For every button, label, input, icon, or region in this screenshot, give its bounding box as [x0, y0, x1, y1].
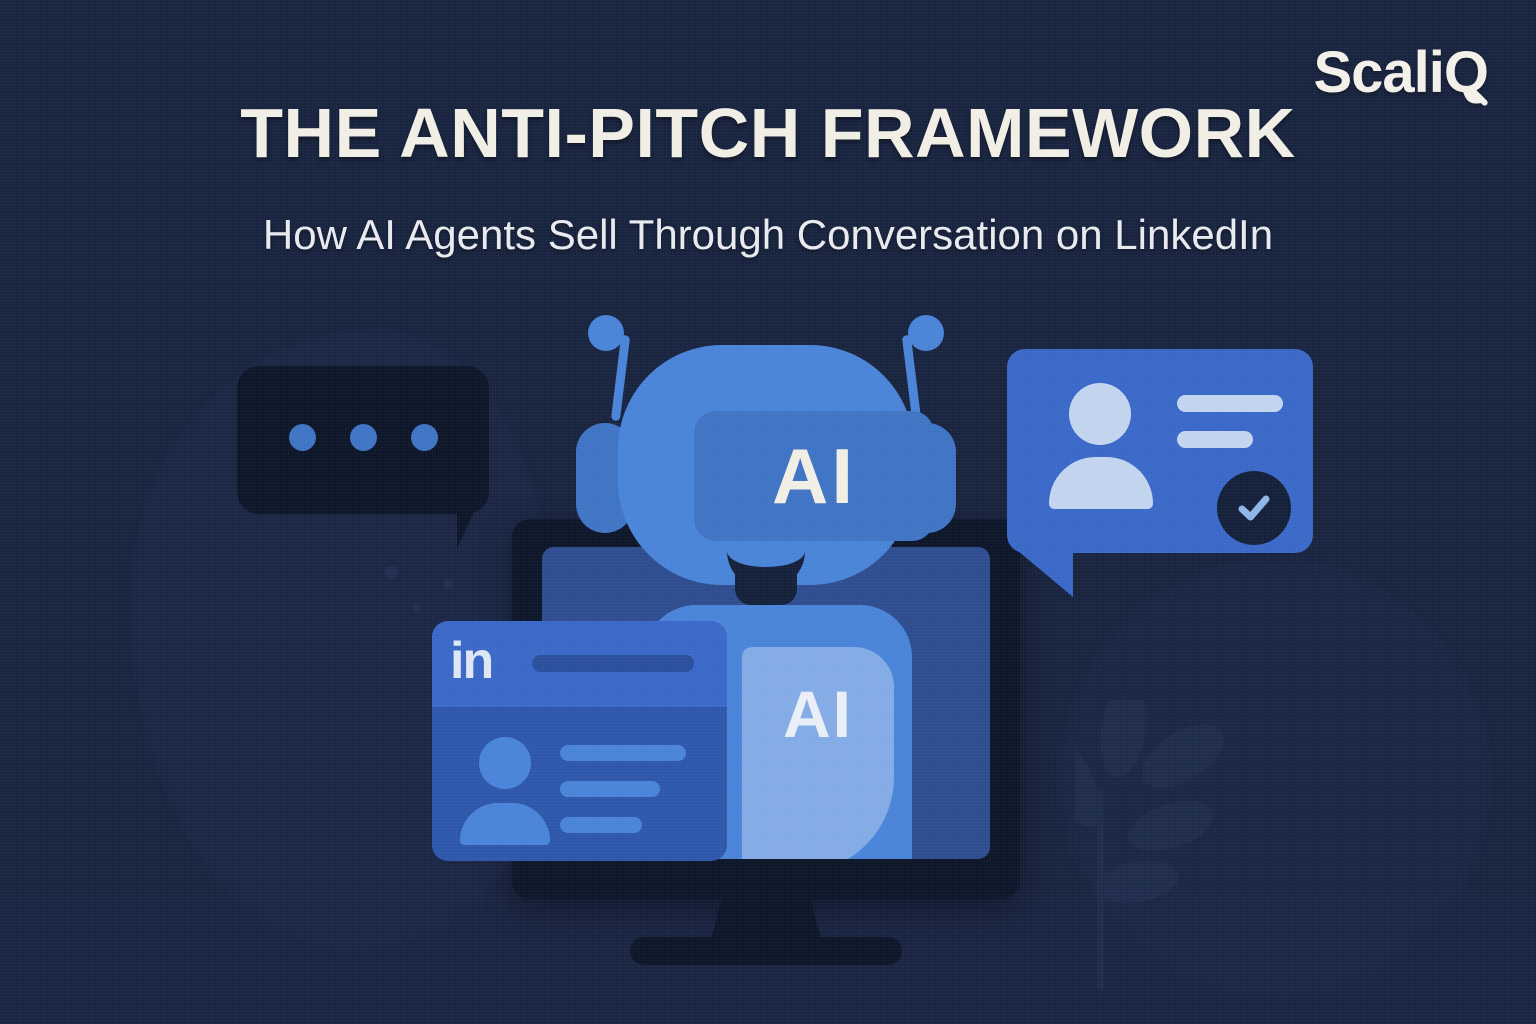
- brand-logo[interactable]: Scali Q: [1313, 44, 1488, 102]
- brand-logo-q-magnifier-icon: Q: [1444, 44, 1488, 102]
- linkedin-profile-card: in: [432, 621, 727, 861]
- verified-profile-bubble: [1007, 349, 1313, 553]
- linkedin-text-line: [560, 745, 686, 761]
- profile-text-line: [1177, 431, 1253, 448]
- typing-dot: [350, 424, 377, 451]
- background-dot: [443, 579, 453, 589]
- linkedin-header-bar: [532, 655, 694, 672]
- robot-head: AI: [618, 345, 914, 585]
- poster-canvas: Scali Q THE ANTI-PITCH FRAMEWORK How AI …: [0, 0, 1536, 1024]
- profile-bubble-tail: [1011, 545, 1073, 597]
- monitor-ai-badge: AI: [742, 647, 894, 859]
- linkedin-text-line: [560, 817, 642, 833]
- linkedin-logo-icon: in: [450, 635, 492, 687]
- check-icon: [1232, 486, 1276, 530]
- brand-logo-text: Scali: [1313, 44, 1443, 102]
- typing-dots: [237, 424, 489, 451]
- robot-antenna-ball-left: [588, 315, 624, 351]
- monitor-stand-neck: [710, 891, 822, 943]
- background-dot: [385, 566, 398, 579]
- plant-silhouette-icon: [1075, 700, 1405, 1000]
- page-subtitle: How AI Agents Sell Through Conversation …: [0, 212, 1536, 258]
- typing-bubble-tail: [457, 502, 479, 548]
- robot-head-illustration: AI: [570, 305, 962, 605]
- verified-badge: [1217, 471, 1291, 545]
- robot-antenna-ball-right: [908, 315, 944, 351]
- monitor-ai-label: AI: [783, 681, 853, 747]
- robot-ai-label: AI: [772, 437, 856, 515]
- typing-indicator-bubble: [237, 366, 489, 514]
- background-dot: [412, 603, 421, 612]
- linkedin-avatar-head-icon: [479, 737, 531, 789]
- robot-neck: [735, 573, 797, 605]
- monitor-stand-base: [630, 937, 902, 965]
- page-title: THE ANTI-PITCH FRAMEWORK: [0, 98, 1536, 168]
- robot-face-screen: AI: [694, 411, 934, 541]
- profile-text-line: [1177, 395, 1283, 412]
- profile-avatar-head-icon: [1069, 383, 1131, 445]
- typing-dot: [289, 424, 316, 451]
- typing-dot: [411, 424, 438, 451]
- linkedin-text-line: [560, 781, 660, 797]
